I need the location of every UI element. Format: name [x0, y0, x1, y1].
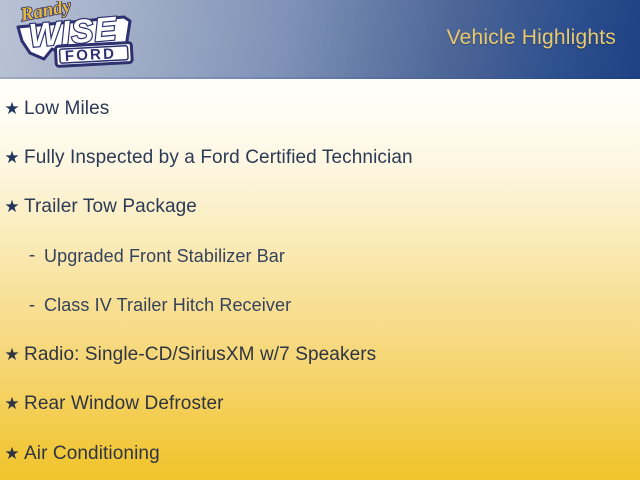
star-bullet-icon: ★: [0, 149, 24, 166]
page-title: Vehicle Highlights: [447, 26, 616, 50]
feature-label: Fully Inspected by a Ford Certified Tech…: [24, 148, 413, 167]
feature-label: Radio: Single-CD/SiriusXM w/7 Speakers: [24, 345, 376, 364]
star-bullet-icon: ★: [0, 198, 24, 215]
feature-sub-item: -Class IV Trailer Hitch Receiver: [0, 290, 640, 320]
feature-sub-item: -Upgraded Front Stabilizer Bar: [0, 241, 640, 271]
star-bullet-icon: ★: [0, 395, 24, 412]
dash-bullet-icon: -: [20, 246, 44, 265]
feature-item: ★Trailer Tow Package: [0, 192, 640, 222]
feature-item: ★Air Conditioning: [0, 438, 640, 468]
randy-wise-ford-logo-graphic: WISE Randy FORD: [8, 1, 136, 77]
feature-item: ★Fully Inspected by a Ford Certified Tec…: [0, 142, 640, 172]
feature-item: ★Low Miles: [0, 93, 640, 123]
feature-label: Rear Window Defroster: [24, 394, 224, 413]
feature-label: Upgraded Front Stabilizer Bar: [44, 247, 285, 265]
feature-item: ★Rear Window Defroster: [0, 389, 640, 419]
highlights-body: ★Low Miles★Fully Inspected by a Ford Cer…: [0, 79, 640, 480]
feature-label: Air Conditioning: [24, 444, 160, 463]
dash-bullet-icon: -: [20, 296, 44, 315]
star-bullet-icon: ★: [0, 346, 24, 363]
feature-label: Class IV Trailer Hitch Receiver: [44, 296, 291, 314]
dealer-logo[interactable]: WISE Randy FORD: [8, 1, 136, 77]
vehicle-highlights-slide: Vehicle Highlights WISE Randy FORD ★Low …: [0, 0, 640, 480]
feature-item: ★Radio: Single-CD/SiriusXM w/7 Speakers: [0, 340, 640, 370]
feature-label: Trailer Tow Package: [24, 197, 197, 216]
feature-label: Low Miles: [24, 99, 109, 118]
svg-text:FORD: FORD: [64, 45, 116, 65]
star-bullet-icon: ★: [0, 100, 24, 117]
star-bullet-icon: ★: [0, 445, 24, 462]
